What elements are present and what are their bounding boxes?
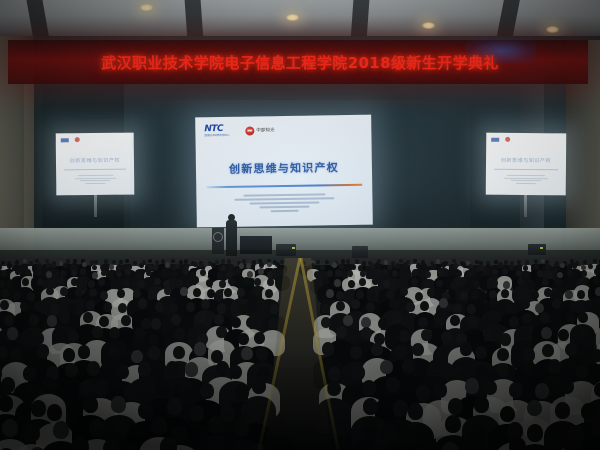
audience-member-head <box>109 264 114 270</box>
audience-member-head <box>63 348 75 361</box>
audience-member-head <box>219 280 226 288</box>
audience-member-head <box>50 304 59 314</box>
audience-member-head <box>500 406 515 423</box>
audience-member-head <box>352 365 365 380</box>
audience-member-head <box>267 278 274 286</box>
audience-member-head <box>460 342 472 355</box>
audience-member-head <box>201 299 210 309</box>
audience-member-head <box>53 421 69 439</box>
audience-member-head <box>577 290 585 299</box>
audience-member-head <box>492 269 498 276</box>
audience-member-head <box>380 360 393 375</box>
audience-member-head <box>23 366 36 381</box>
audience-member-head <box>46 263 51 269</box>
audience-member-head <box>501 289 509 298</box>
audience-member-head <box>217 272 223 279</box>
audience-member-head <box>412 269 418 276</box>
audience-member-head <box>83 396 98 413</box>
audience-member-head <box>341 259 345 263</box>
audience-member-head <box>94 380 108 396</box>
audience-member-head <box>386 377 400 393</box>
audience-member-head <box>347 270 353 277</box>
audience-member-head <box>453 263 458 269</box>
audience-member-head <box>268 318 278 329</box>
audience-member-head <box>335 269 341 276</box>
audience-member-head <box>67 303 76 313</box>
audience-member-head <box>523 271 529 278</box>
right-projection-screen: 创新思维与知识产权 <box>486 133 567 196</box>
audience-member-head <box>252 378 266 394</box>
partner-logo-icon <box>75 137 80 142</box>
audience-member-head <box>148 346 160 359</box>
audience-member-head <box>593 259 597 263</box>
slide-accent-rule <box>206 184 362 188</box>
audience-member-head <box>256 299 265 309</box>
audience-member-head <box>460 291 468 300</box>
partner-logo-label: 中部知光 <box>256 127 274 133</box>
audience-member-head <box>46 287 54 296</box>
audience-member-head <box>178 377 192 393</box>
audience-member-head <box>33 332 44 344</box>
audience-member-head <box>104 259 108 263</box>
audience-member-head <box>525 260 529 264</box>
audience-member-head <box>522 360 535 375</box>
auditorium-photo: 武汉职业技术学院电子信息工程学院2018级新生开学典礼 创新思维与知识产权 创新… <box>0 0 600 450</box>
audience-member-head <box>326 289 334 298</box>
audience-member-head <box>15 260 19 264</box>
audience-member-head <box>594 382 600 398</box>
audience-member-head <box>470 441 487 450</box>
audience-member-head <box>165 262 170 268</box>
audience-member-head <box>448 268 454 275</box>
audience-member-head <box>491 279 498 287</box>
audience-member-head <box>138 362 151 377</box>
ntc-logo-icon <box>61 138 69 142</box>
audience-member-head <box>216 361 229 376</box>
audience-member-head <box>362 380 376 396</box>
audience-member-head <box>332 262 337 268</box>
audience-member-head <box>185 362 198 377</box>
audience-member-head <box>63 263 68 269</box>
audience-member-head <box>148 334 159 346</box>
audience-member-head <box>591 416 600 434</box>
audience-member-head <box>258 268 264 275</box>
audience-member-head <box>35 259 39 263</box>
audience-member-head <box>280 260 284 264</box>
left-screen-logos <box>61 137 80 142</box>
audience-member-head <box>403 262 408 268</box>
audience-member-head <box>71 263 76 269</box>
audience-member-head <box>566 312 576 323</box>
audience-member-head <box>6 279 13 287</box>
audience-member-head <box>98 278 105 286</box>
audience-member-head <box>60 312 70 323</box>
audience-member-head <box>468 316 478 327</box>
audience-member-head <box>363 398 378 415</box>
audience-member-head <box>72 437 89 450</box>
left-screen-rule <box>64 169 126 171</box>
audience-member-head <box>433 382 447 398</box>
audience-member-head <box>167 398 182 415</box>
audience-member-head <box>214 314 224 325</box>
audience-member-head <box>445 415 461 433</box>
audience-member-head <box>334 279 341 287</box>
audience-member-head <box>569 301 578 311</box>
audience-member-head <box>25 382 39 398</box>
audience-member-head <box>469 424 485 442</box>
left-projection-screen: 创新思维与知识产权 <box>56 133 135 196</box>
audience-member-head <box>483 268 489 275</box>
audience-member-head <box>75 288 83 297</box>
audience-member-head <box>131 350 143 363</box>
audience-member-head <box>174 328 185 340</box>
ceiling-downlight-icon <box>546 26 559 33</box>
audience-member-head <box>221 265 226 271</box>
audience-member-head <box>246 317 256 328</box>
audience-member-head <box>99 316 109 327</box>
audience-member-head <box>7 263 12 269</box>
audience-member-head <box>136 272 142 279</box>
audience-member-head <box>196 312 206 323</box>
audience-member-head <box>2 419 18 437</box>
audience-member-head <box>189 405 204 422</box>
audience-member-head <box>431 264 436 270</box>
audience-member-head <box>36 269 42 276</box>
slide-body-text <box>214 193 354 213</box>
audience-member-head <box>453 303 462 313</box>
audience-member-head <box>378 318 388 329</box>
ntc-logo-icon: NTC 国家技术转移东部中心 <box>204 125 229 138</box>
audience-member-head <box>193 288 201 297</box>
audience-member-head <box>415 292 423 301</box>
audience-member-head <box>108 345 120 358</box>
ceiling-downlight-icon <box>286 14 299 21</box>
audience-member-head <box>361 419 377 437</box>
audience-member-head <box>118 303 127 313</box>
audience-member-head <box>411 278 418 286</box>
audience-member-head <box>10 347 22 360</box>
audience-member-head <box>31 400 46 417</box>
audience-member-head <box>22 278 29 286</box>
audience-member-head <box>483 328 494 340</box>
audience-member-head <box>148 259 152 263</box>
audience-member-head <box>581 270 587 277</box>
audience-member-head <box>80 380 94 396</box>
audience-member-head <box>270 304 279 314</box>
audience-member-head <box>221 259 225 263</box>
audience-member-head <box>1 377 15 393</box>
ntc-logo-icon <box>491 137 499 141</box>
audience-member-head <box>151 318 161 329</box>
audience-member-head <box>176 279 183 287</box>
audience-member-head <box>155 302 164 312</box>
audience-member-head <box>155 380 169 396</box>
audience-member-head <box>503 281 510 289</box>
partner-logo-icon <box>505 137 510 142</box>
audience-member-head <box>489 298 498 308</box>
stage-monitor <box>276 244 296 256</box>
audience-member-head <box>448 398 463 415</box>
audience-member-head <box>180 287 188 296</box>
audience-member-head <box>389 298 398 308</box>
audience-member-head <box>235 268 241 275</box>
audience-member-head <box>534 259 538 263</box>
audience-member-head <box>59 261 63 265</box>
audience-member-head <box>557 272 563 279</box>
audience-member-head <box>82 262 87 268</box>
audience-member-head <box>65 363 78 378</box>
audience-member-head <box>316 260 320 264</box>
audience-member-head <box>207 289 215 298</box>
audience-member-head <box>238 333 249 345</box>
audience-member-head <box>424 280 431 288</box>
audience-member-head <box>328 367 341 382</box>
audience-member-head <box>83 312 93 323</box>
audience-member-head <box>23 259 27 263</box>
audience-member-head <box>267 271 273 278</box>
ceiling <box>0 0 600 40</box>
audience-member-head <box>37 278 44 286</box>
audience-member-head <box>593 277 600 285</box>
main-projection-screen: NTC 国家技术转移东部中心 中部知光 创新思维与知识产权 <box>195 115 373 228</box>
audience-member-head <box>169 303 178 313</box>
audience-member-head <box>239 304 248 314</box>
audience-member-head <box>383 280 390 288</box>
audience-member-head <box>356 290 364 299</box>
audience-member-head <box>441 262 446 268</box>
audience-member-head <box>138 402 153 419</box>
audience-member-head <box>0 300 9 310</box>
audience-member-head <box>572 263 577 269</box>
audience-member-head <box>87 361 100 376</box>
ceiling-downlight-icon <box>140 4 153 11</box>
audience-member-head <box>438 269 444 276</box>
audience-member-head <box>346 259 350 263</box>
audience-member-head <box>248 404 263 421</box>
audience-member-head <box>47 315 57 326</box>
audience-member-head <box>371 343 383 356</box>
audience-member-head <box>78 345 90 358</box>
audience-member-head <box>415 425 431 443</box>
audience-member-head <box>523 265 528 271</box>
right-screen-rule <box>494 169 558 171</box>
ceiling-beam <box>185 0 204 40</box>
audience-member-head <box>519 326 530 338</box>
audience-member-head <box>124 384 138 400</box>
audience-member-head <box>534 264 539 270</box>
left-screen-stand <box>94 195 97 217</box>
audience-member-head <box>7 327 18 339</box>
audience-member-head <box>392 270 398 277</box>
monitor-led-icon <box>292 247 295 249</box>
audience-member-head <box>348 280 355 288</box>
audience-member-head <box>47 279 54 287</box>
audience-member-head <box>436 259 440 263</box>
stage-monitor <box>352 246 368 258</box>
audience-member-head <box>322 277 329 285</box>
audience-member-head <box>474 396 489 413</box>
audience-member-head <box>387 265 392 271</box>
audience-member-head <box>509 437 526 450</box>
audience-member-head <box>384 260 388 264</box>
audience-member-head <box>146 270 152 277</box>
audience-member-head <box>121 315 131 326</box>
audience-member-head <box>591 349 600 362</box>
audience-member-head <box>171 259 175 263</box>
audience-member-head <box>27 292 35 301</box>
audience-member-head <box>594 268 600 275</box>
audience-member-head <box>88 280 95 288</box>
audience-member-head <box>138 298 147 308</box>
audience-member-head <box>528 281 535 289</box>
audience-member-head <box>60 270 66 277</box>
audience-member-head <box>375 262 380 268</box>
audience-member-head <box>133 261 137 265</box>
monitor-led-icon <box>540 247 543 249</box>
left-screen-body <box>70 175 120 184</box>
audience-member-head <box>535 383 549 399</box>
audience-member-head <box>235 384 249 400</box>
audience-member-head <box>517 277 524 285</box>
right-screen-title: 创新思维与知识产权 <box>486 157 566 165</box>
audience-member-head <box>208 416 224 434</box>
ntc-logo-subtitle: 国家技术转移东部中心 <box>204 135 229 138</box>
audience-member-head <box>92 272 98 279</box>
ntc-logo-mark: NTC <box>204 125 223 134</box>
audience-member-head <box>583 260 587 264</box>
audience-member-head <box>154 278 161 286</box>
audience-member-head <box>584 300 593 310</box>
right-screen-logos <box>491 137 510 142</box>
audience-member-head <box>475 365 488 380</box>
presenter-body <box>226 220 237 256</box>
audience-member-head <box>89 419 105 437</box>
audience-member-head <box>92 326 103 338</box>
audience-member-head <box>547 272 553 279</box>
audience-member-head <box>399 330 410 342</box>
audience-member-head <box>253 287 261 296</box>
audience-member-head <box>336 301 345 311</box>
audience-member-head <box>412 343 424 356</box>
audience-member-head <box>541 327 552 339</box>
audience-member-head <box>408 403 423 420</box>
audience-member-head <box>47 404 62 421</box>
audience-member-head <box>193 262 198 268</box>
audience-member-head <box>1 289 9 298</box>
audience-member-head <box>567 270 573 277</box>
audience-member-head <box>498 262 503 268</box>
audience-member-head <box>465 378 479 394</box>
audience-member-head <box>58 277 65 285</box>
audience-member-head <box>505 303 514 313</box>
audience-member-head <box>239 263 244 269</box>
audience-member-head <box>546 264 551 270</box>
audience-member-head <box>92 265 97 271</box>
audience-member-head <box>588 264 593 270</box>
audience-member-head <box>350 346 362 359</box>
audience-member-head <box>151 417 167 435</box>
audience-member-head <box>80 268 86 275</box>
audience-member-head <box>322 342 334 355</box>
audience-member-head <box>456 270 462 277</box>
audience-member-head <box>500 333 511 345</box>
audience-member-head <box>229 365 242 380</box>
audience-member-head <box>527 400 542 417</box>
audience-member-head <box>393 400 408 417</box>
audience-member-head <box>436 280 443 288</box>
audience-member-head <box>246 263 251 269</box>
audience-member-head <box>227 259 231 263</box>
audience-member-head <box>579 277 586 285</box>
audience-member-head <box>20 301 29 311</box>
audience-member-head <box>527 424 543 442</box>
audience-member-head <box>256 347 268 360</box>
audience-member-head <box>184 259 188 263</box>
audience-member-head <box>355 259 359 263</box>
audience-member-head <box>37 344 49 357</box>
audience-member-head <box>206 279 213 287</box>
audience-member-head <box>362 261 366 265</box>
audience-member-head <box>138 280 145 288</box>
audience-member-head <box>71 269 77 276</box>
audience-member-head <box>173 346 185 359</box>
audience-member-head <box>94 260 98 264</box>
ceiling-downlight-icon <box>422 22 435 29</box>
audience-member-head <box>321 317 331 328</box>
right-screen-body <box>500 175 552 184</box>
audience-member-head <box>509 316 519 327</box>
audience-member-head <box>558 329 569 341</box>
audience-member-head <box>0 280 5 288</box>
audience-member-head <box>149 289 157 298</box>
audience-member-head <box>548 359 561 374</box>
audience-member-head <box>400 287 408 296</box>
logo-circle-icon <box>245 126 254 135</box>
audience-member-head <box>237 288 245 297</box>
audience-member-head <box>522 313 532 324</box>
audience-member-head <box>228 264 233 270</box>
ceiling-beam <box>26 0 49 40</box>
audience-member-head <box>241 347 253 360</box>
audience-member-head <box>351 264 356 270</box>
audience-member-head <box>103 302 112 312</box>
audience-member-head <box>200 383 214 399</box>
audience-member-head <box>555 402 570 419</box>
audience-member-head <box>509 264 514 270</box>
audience-member-head <box>164 286 172 295</box>
audience-member-head <box>578 312 588 323</box>
audience-member-head <box>416 263 421 269</box>
audience-member-head <box>395 345 407 358</box>
audience-member-head <box>416 385 430 401</box>
stage-monitor <box>528 244 546 255</box>
audience-member-head <box>361 327 372 339</box>
audience-member-head <box>116 365 129 380</box>
audience-member-head <box>540 312 550 323</box>
audience-member-head <box>428 360 441 375</box>
audience-member-head <box>24 424 40 442</box>
audience-member-head <box>321 304 330 314</box>
audience-member-head <box>133 289 141 298</box>
audience-member-head <box>217 303 226 313</box>
audience-member-head <box>504 260 508 264</box>
audience-member-head <box>435 346 447 359</box>
audience-member-head <box>186 302 195 312</box>
audience-member-head <box>422 263 427 269</box>
audience-member-head <box>139 263 144 269</box>
event-banner-title: 武汉职业技术学院电子信息工程学院2018级新生开学典礼 <box>0 44 600 80</box>
audience-member-head <box>336 326 347 338</box>
